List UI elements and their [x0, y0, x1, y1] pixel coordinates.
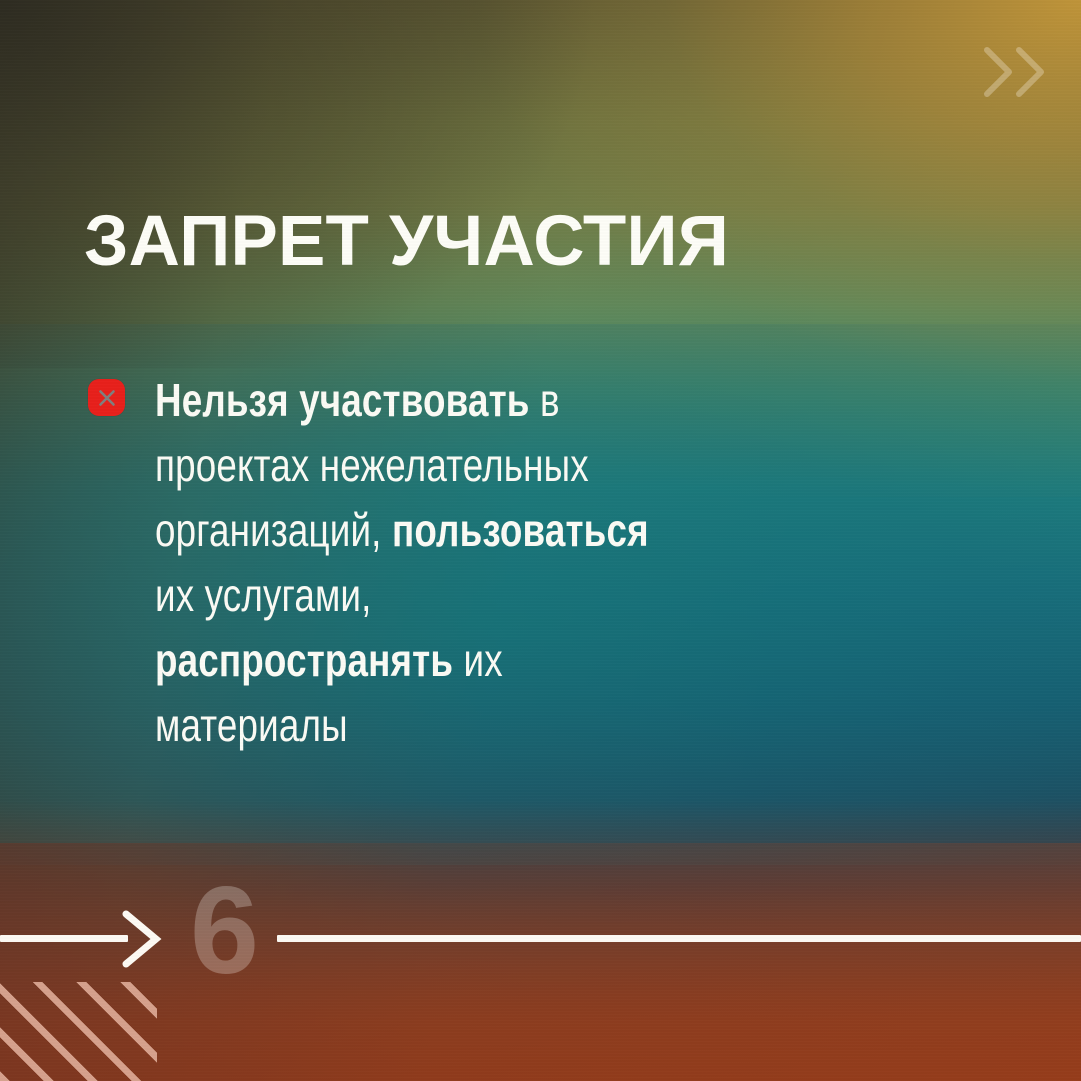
- bullet-run-4: распространять: [155, 634, 453, 686]
- double-chevron-right-icon: [977, 42, 1053, 102]
- bullet-row: Нельзя участвовать в проектах нежелатель…: [88, 368, 808, 758]
- diagonal-stripes-pattern: [0, 982, 157, 1081]
- bullet-block: Нельзя участвовать в проектах нежелатель…: [88, 368, 808, 758]
- bullet-text: Нельзя участвовать в проектах нежелатель…: [155, 368, 677, 758]
- footer-rule-left: [0, 935, 128, 942]
- arrow-right-icon: [118, 908, 164, 970]
- bullet-run-2: пользоваться: [392, 504, 649, 556]
- bullet-run-0: Нельзя участвовать: [155, 374, 530, 426]
- page-title: ЗАПРЕТ УЧАСТИЯ: [84, 206, 729, 277]
- slide-canvas: ЗАПРЕТ УЧАСТИЯ Нельзя участвовать в прое…: [0, 0, 1081, 1081]
- bullet-run-3: их услугами,: [155, 569, 372, 621]
- page-number: 6: [190, 869, 258, 993]
- cross-x-icon: [88, 379, 125, 416]
- footer-rule-right: [277, 935, 1081, 942]
- background-dark-corner: [0, 0, 595, 368]
